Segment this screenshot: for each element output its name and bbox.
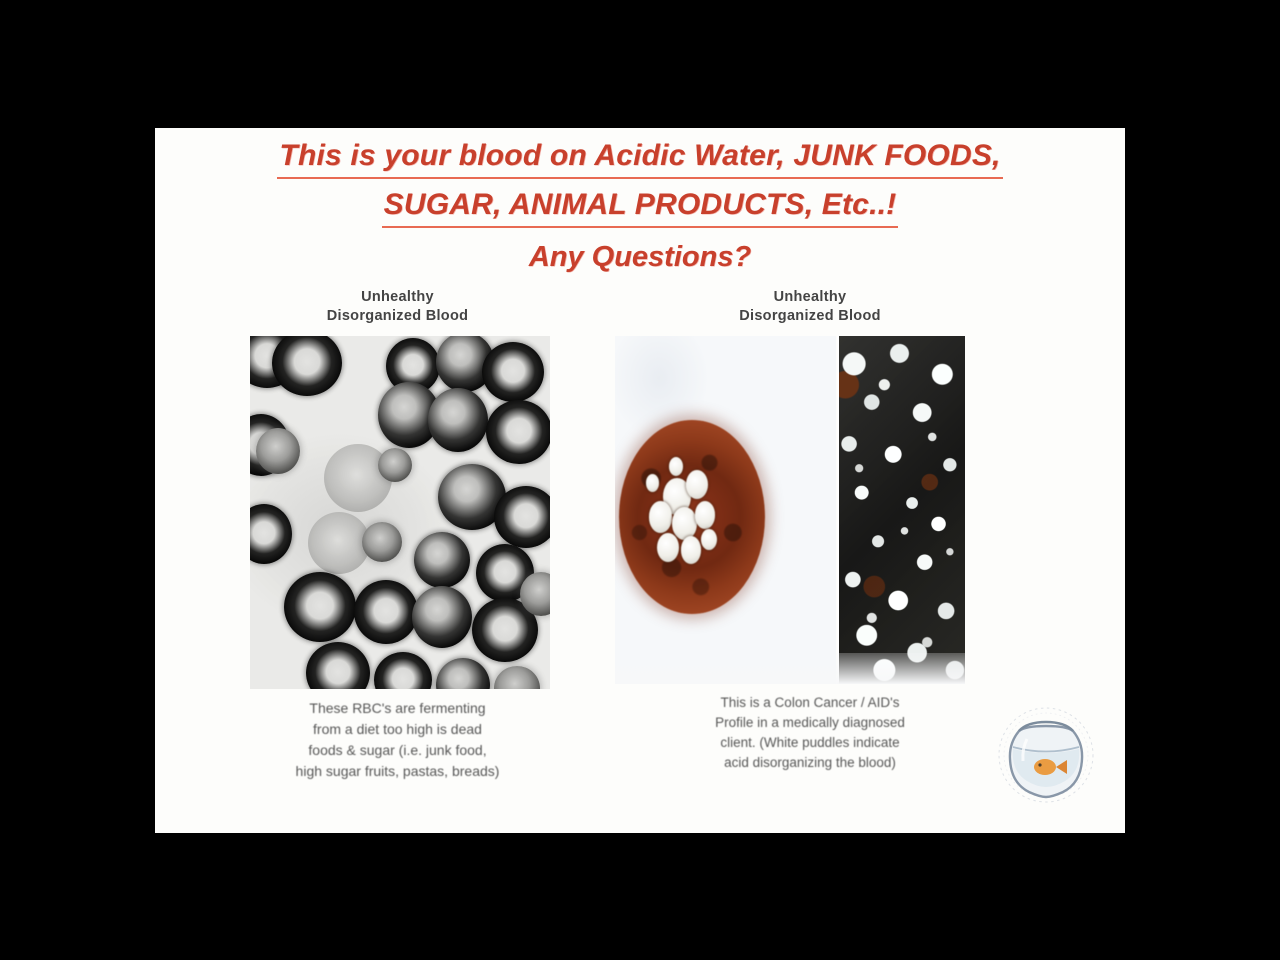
white-puddle xyxy=(657,533,679,562)
panel-left-heading: Unhealthy Disorganized Blood xyxy=(215,288,580,326)
blood-cell xyxy=(362,522,402,562)
blood-cell xyxy=(482,342,544,402)
slide-subtitle: Any Questions? xyxy=(155,240,1125,274)
white-puddle xyxy=(681,536,701,563)
panel-left-caption: These RBC's are fermenting from a diet t… xyxy=(215,698,580,782)
caption-line: acid disorganizing the blood) xyxy=(600,753,1020,773)
caption-line: Profile in a medically diagnosed xyxy=(600,713,1020,733)
white-puddle xyxy=(695,501,715,528)
blood-cell xyxy=(308,512,370,574)
white-puddle xyxy=(646,474,659,492)
caption-line: client. (White puddles indicate xyxy=(600,733,1020,753)
panel-right-figure: This is a Colon Cancer / AID's Profile i… xyxy=(600,336,1020,773)
white-puddle xyxy=(649,501,672,532)
blood-cell xyxy=(378,448,412,482)
caption-line: high sugar fruits, pastas, breads) xyxy=(215,761,580,782)
panel-right: Unhealthy Disorganized Blood xyxy=(600,288,1020,773)
caption-line: This is a Colon Cancer / AID's xyxy=(600,693,1020,713)
fishbowl-logo xyxy=(995,701,1097,809)
presentation-slide: This is your blood on Acidic Water, JUNK… xyxy=(155,128,1125,833)
blood-cell xyxy=(354,580,418,644)
blood-cell xyxy=(486,400,550,464)
panel-right-heading-line-1: Unhealthy xyxy=(600,288,1020,307)
panel-left-heading-line-1: Unhealthy xyxy=(215,288,580,307)
micrograph-left-half xyxy=(615,336,836,684)
panel-left: Unhealthy Disorganized Blood xyxy=(215,288,580,782)
panel-left-figure: These RBC's are fermenting from a diet t… xyxy=(215,336,580,782)
blood-cell xyxy=(256,428,300,474)
blood-cell xyxy=(494,486,550,548)
white-puddle xyxy=(672,507,697,540)
blood-cell xyxy=(284,572,356,642)
panel-right-heading: Unhealthy Disorganized Blood xyxy=(600,288,1020,326)
title-line-1-wrap: This is your blood on Acidic Water, JUNK… xyxy=(155,136,1125,179)
caption-line: These RBC's are fermenting xyxy=(215,698,580,719)
panel-left-heading-line-2: Disorganized Blood xyxy=(215,307,580,326)
caption-line: from a diet too high is dead xyxy=(215,719,580,740)
blood-cell xyxy=(414,532,470,588)
blood-cell xyxy=(428,388,488,452)
grayscale-rbc-micrograph-image xyxy=(250,336,550,689)
white-puddle xyxy=(701,529,717,550)
micrograph-bottom-fade xyxy=(615,653,965,684)
slide-title-block: This is your blood on Acidic Water, JUNK… xyxy=(155,136,1125,274)
title-line-1: This is your blood on Acidic Water, JUNK… xyxy=(277,136,1002,179)
title-line-2-wrap: SUGAR, ANIMAL PRODUCTS, Etc..! xyxy=(155,185,1125,228)
title-line-2: SUGAR, ANIMAL PRODUCTS, Etc..! xyxy=(382,185,899,228)
panel-right-heading-line-2: Disorganized Blood xyxy=(600,307,1020,326)
colon-cancer-aids-profile-micrograph-image xyxy=(615,336,965,684)
caption-line: foods & sugar (i.e. junk food, xyxy=(215,740,580,761)
panel-right-caption: This is a Colon Cancer / AID's Profile i… xyxy=(600,693,1020,773)
blood-mass-blob xyxy=(619,420,765,615)
blood-cell xyxy=(412,586,472,648)
micrograph-right-half xyxy=(839,336,965,684)
video-letterbox-frame: This is your blood on Acidic Water, JUNK… xyxy=(0,0,1280,960)
